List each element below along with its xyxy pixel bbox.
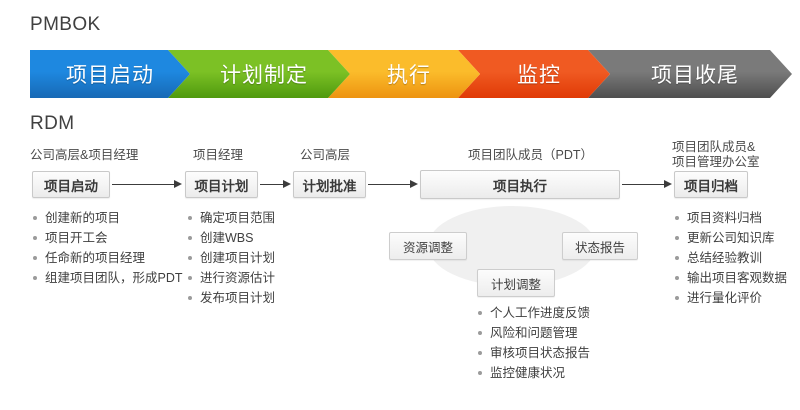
arrow-shaft bbox=[260, 184, 284, 185]
bullet-list-initiation: 创建新的项目项目开工会任命新的项目经理组建项目团队，形成PDT bbox=[32, 208, 183, 288]
pmbok-phase-band: 项目启动计划制定执行监控项目收尾 bbox=[30, 50, 770, 98]
pmbok-phase-5[interactable]: 项目收尾 bbox=[588, 50, 792, 98]
pmbok-phase-label: 监控 bbox=[517, 59, 561, 89]
pmbok-phase-label: 项目启动 bbox=[66, 59, 154, 89]
arrow-head-icon bbox=[283, 180, 291, 188]
rdm-cycle-box-2[interactable]: 状态报告 bbox=[562, 232, 638, 260]
list-item: 输出项目客观数据 bbox=[674, 268, 787, 288]
rdm-column-header-2: 项目经理 bbox=[193, 148, 313, 163]
pmbok-phase-label: 计划制定 bbox=[220, 59, 308, 89]
rdm-column-header-1: 公司高层&项目经理 bbox=[30, 148, 210, 163]
list-item: 确定项目范围 bbox=[187, 208, 275, 228]
rdm-process-box-1[interactable]: 项目启动 bbox=[32, 171, 110, 198]
rdm-column-header-3: 公司高层 bbox=[300, 148, 420, 163]
rdm-section-title: RDM bbox=[30, 113, 74, 135]
list-item: 进行资源估计 bbox=[187, 268, 275, 288]
diagram-canvas: PMBOK 项目启动计划制定执行监控项目收尾 RDM 公司高层&项目经理项目经理… bbox=[0, 0, 800, 410]
list-item: 创建项目计划 bbox=[187, 248, 275, 268]
list-item: 创建新的项目 bbox=[32, 208, 183, 228]
list-item: 组建项目团队，形成PDT bbox=[32, 268, 183, 288]
flow-arrow-2 bbox=[260, 180, 291, 189]
pmbok-phase-1[interactable]: 项目启动 bbox=[30, 50, 190, 98]
pmbok-section-title: PMBOK bbox=[30, 14, 101, 36]
list-item: 任命新的项目经理 bbox=[32, 248, 183, 268]
rdm-column-header-4: 项目团队成员（PDT） bbox=[468, 148, 668, 163]
rdm-process-box-2[interactable]: 项目计划 bbox=[185, 171, 258, 198]
list-item: 项目开工会 bbox=[32, 228, 183, 248]
pmbok-phase-4[interactable]: 监控 bbox=[458, 50, 610, 98]
pmbok-phase-label: 执行 bbox=[387, 59, 431, 89]
arrow-head-icon bbox=[664, 180, 672, 188]
flow-arrow-1 bbox=[112, 180, 182, 189]
list-item: 更新公司知识库 bbox=[674, 228, 787, 248]
list-item: 审核项目状态报告 bbox=[477, 343, 590, 363]
arrow-head-icon bbox=[410, 180, 418, 188]
arrow-shaft bbox=[622, 184, 665, 185]
arrow-head-icon bbox=[174, 180, 182, 188]
flow-arrow-3 bbox=[368, 180, 418, 189]
rdm-process-box-3[interactable]: 计划批准 bbox=[293, 171, 366, 198]
rdm-process-box-4[interactable]: 项目执行 bbox=[420, 170, 620, 199]
rdm-cycle-box-1[interactable]: 资源调整 bbox=[389, 232, 467, 260]
list-item: 个人工作进度反馈 bbox=[477, 303, 590, 323]
rdm-column-header-5: 项目团队成员& 项目管理办公室 bbox=[672, 140, 800, 170]
list-item: 风险和问题管理 bbox=[477, 323, 590, 343]
list-item: 项目资料归档 bbox=[674, 208, 787, 228]
bullet-list-closing: 项目资料归档更新公司知识库总结经验教训输出项目客观数据进行量化评价 bbox=[674, 208, 787, 308]
bullet-list-planning: 确定项目范围创建WBS创建项目计划进行资源估计发布项目计划 bbox=[187, 208, 275, 308]
bullet-list-execution: 个人工作进度反馈风险和问题管理审核项目状态报告监控健康状况 bbox=[477, 303, 590, 383]
pmbok-phase-label: 项目收尾 bbox=[651, 59, 739, 89]
arrow-shaft bbox=[112, 184, 175, 185]
rdm-process-box-5[interactable]: 项目归档 bbox=[674, 171, 748, 198]
list-item: 创建WBS bbox=[187, 228, 275, 248]
arrow-shaft bbox=[368, 184, 411, 185]
list-item: 进行量化评价 bbox=[674, 288, 787, 308]
flow-arrow-4 bbox=[622, 180, 672, 189]
pmbok-phase-3[interactable]: 执行 bbox=[328, 50, 480, 98]
list-item: 发布项目计划 bbox=[187, 288, 275, 308]
pmbok-phase-2[interactable]: 计划制定 bbox=[168, 50, 350, 98]
list-item: 监控健康状况 bbox=[477, 363, 590, 383]
list-item: 总结经验教训 bbox=[674, 248, 787, 268]
rdm-cycle-box-3[interactable]: 计划调整 bbox=[477, 269, 555, 297]
